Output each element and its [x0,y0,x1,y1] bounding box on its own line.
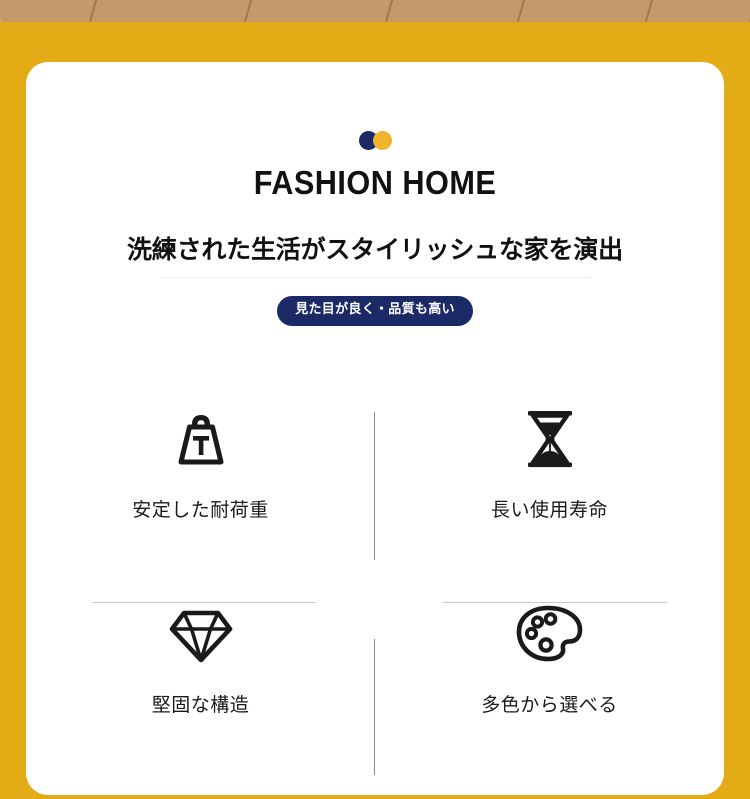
feature-item-load-capacity: 安定した耐荷重 [26,362,375,562]
status-badge: 見た目が良く・品質も高い [277,296,473,326]
page-title: FASHION HOME [50,164,699,202]
feature-label: 長い使用寿命 [491,495,608,522]
feature-grid: 安定した耐荷重 長い使用寿命 [26,332,724,732]
subtitle-divider [160,277,590,278]
diamond-icon [164,598,238,670]
weight-icon [164,403,238,475]
hourglass-icon [513,403,587,475]
product-feature-banner: FASHION HOME 洗練された生活がスタイリッシュな家を演出 見た目が良く… [0,0,750,799]
logo-dots [26,130,724,150]
feature-item-structure: 堅固な構造 [26,557,375,757]
content-card: FASHION HOME 洗練された生活がスタイリッシュな家を演出 見た目が良く… [26,62,724,795]
yellow-frame: FASHION HOME 洗練された生活がスタイリッシュな家を演出 見た目が良く… [0,22,750,799]
palette-icon [513,598,587,670]
badge-row: 見た目が良く・品質も高い [26,296,724,326]
feature-label: 多色から選べる [481,690,618,717]
dot-gold-icon [373,131,392,150]
feature-label: 堅固な構造 [152,690,250,717]
feature-label: 安定した耐荷重 [132,495,269,522]
subtitle: 洗練された生活がスタイリッシュな家を演出 [26,230,724,266]
wood-texture-strip [0,0,750,22]
feature-item-lifespan: 長い使用寿命 [375,362,724,562]
feature-item-colors: 多色から選べる [375,557,724,757]
